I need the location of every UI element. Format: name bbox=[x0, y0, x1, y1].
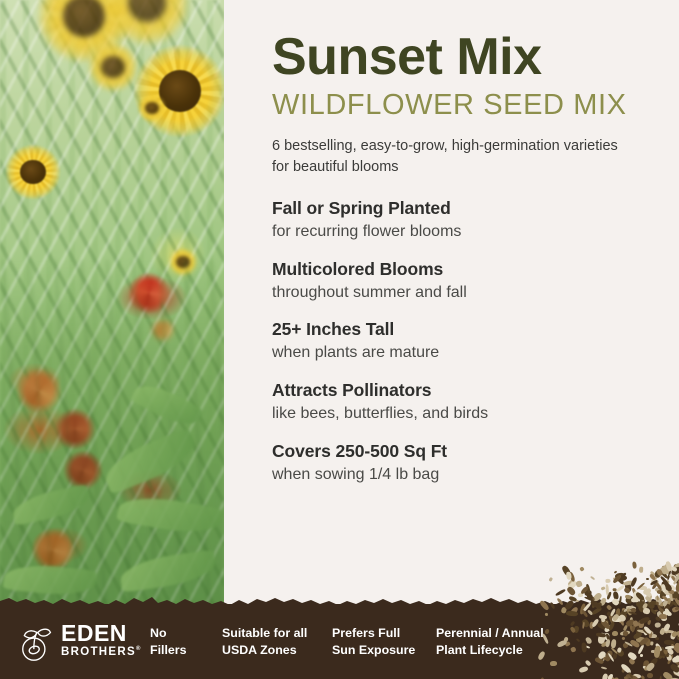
seed-particle bbox=[537, 650, 546, 660]
seed-particle bbox=[575, 638, 579, 642]
seed-particle bbox=[639, 654, 642, 657]
seed-particle bbox=[656, 595, 659, 600]
product-lede: 6 bestselling, easy-to-grow, high-germin… bbox=[272, 136, 622, 178]
seed-particle bbox=[540, 599, 551, 611]
feature-heading: Fall or Spring Planted bbox=[272, 198, 645, 220]
claim-item: No Fillers bbox=[150, 625, 222, 657]
feature-heading: Multicolored Blooms bbox=[272, 259, 645, 281]
seed-particle bbox=[581, 642, 587, 653]
feature-subtext: throughout summer and fall bbox=[272, 283, 645, 304]
feature-list: Fall or Spring Planted for recurring flo… bbox=[272, 198, 645, 485]
seed-particle bbox=[600, 586, 604, 590]
seed-particle bbox=[565, 571, 572, 579]
seed-particle bbox=[605, 579, 610, 583]
claim-line2: Fillers bbox=[150, 642, 222, 658]
feature-heading: Attracts Pollinators bbox=[272, 380, 645, 402]
seed-particle bbox=[549, 661, 556, 666]
claim-line2: USDA Zones bbox=[222, 642, 332, 658]
seed-particle bbox=[605, 584, 609, 595]
feature-item: Multicolored Blooms throughout summer an… bbox=[272, 259, 645, 304]
seed-particle bbox=[665, 645, 675, 649]
feature-subtext: when plants are mature bbox=[272, 343, 645, 364]
sprout-icon bbox=[18, 622, 56, 662]
claim-item: Prefers Full Sun Exposure bbox=[332, 625, 436, 657]
seed-particle bbox=[570, 646, 576, 652]
seed-particle bbox=[610, 638, 616, 648]
seed-particle bbox=[601, 666, 608, 670]
feature-item: Covers 250-500 Sq Ft when sowing 1/4 lb … bbox=[272, 441, 645, 486]
seed-particle bbox=[640, 675, 644, 679]
seed-particle bbox=[650, 642, 654, 646]
seed-particle bbox=[605, 639, 611, 648]
feature-heading: 25+ Inches Tall bbox=[272, 319, 645, 341]
claim-item: Suitable for all USDA Zones bbox=[222, 625, 332, 657]
feature-item: 25+ Inches Tall when plants are mature bbox=[272, 319, 645, 364]
seed-particle bbox=[612, 652, 617, 659]
seed-particle bbox=[566, 586, 576, 596]
sunflower-icon bbox=[4, 144, 62, 200]
seed-particle bbox=[580, 566, 586, 572]
feature-subtext: for recurring flower blooms bbox=[272, 222, 645, 243]
seed-particle bbox=[556, 639, 568, 648]
sunflower-icon bbox=[133, 44, 224, 138]
seed-particle bbox=[646, 578, 649, 580]
seed-particle bbox=[630, 576, 638, 587]
seed-particle bbox=[545, 613, 549, 616]
claim-line1: No bbox=[150, 626, 167, 640]
seed-particle bbox=[541, 633, 548, 644]
seed-particle bbox=[575, 580, 582, 587]
feature-heading: Covers 250-500 Sq Ft bbox=[272, 441, 645, 463]
sunflower-icon bbox=[137, 94, 167, 122]
seed-particle bbox=[647, 672, 653, 678]
seed-particle bbox=[631, 562, 636, 569]
seed-particle bbox=[612, 631, 619, 637]
brand-logo: EDEN BROTHERS® bbox=[18, 622, 144, 662]
seed-particle bbox=[579, 666, 589, 673]
sunflower-icon bbox=[86, 42, 140, 92]
feature-subtext: when sowing 1/4 lb bag bbox=[272, 465, 645, 486]
feature-item: Fall or Spring Planted for recurring flo… bbox=[272, 198, 645, 243]
seed-pile-photo bbox=[531, 561, 679, 679]
feature-subtext: like bees, butterflies, and birds bbox=[272, 404, 645, 425]
product-subtitle: WILDFLOWER SEED MIX bbox=[272, 90, 645, 122]
trademark-symbol: ® bbox=[136, 646, 142, 652]
claim-line1: Perennial / Annual bbox=[436, 626, 544, 640]
seed-particle bbox=[549, 602, 555, 610]
seed-particle bbox=[566, 611, 578, 617]
claim-line1: Suitable for all bbox=[222, 626, 307, 640]
seed-particle bbox=[555, 589, 566, 597]
seed-particle bbox=[576, 600, 580, 603]
seed-particle bbox=[585, 659, 592, 666]
brand-name-line2: BROTHERS bbox=[61, 646, 136, 658]
seed-particle bbox=[548, 577, 553, 582]
claim-line1: Prefers Full bbox=[332, 626, 400, 640]
product-infographic: Sunset Mix WILDFLOWER SEED MIX 6 bestsel… bbox=[0, 0, 679, 679]
feature-item: Attracts Pollinators like bees, butterfl… bbox=[272, 380, 645, 425]
seed-particle bbox=[589, 575, 595, 580]
content-panel: Sunset Mix WILDFLOWER SEED MIX 6 bestsel… bbox=[224, 0, 679, 612]
seed-particle bbox=[659, 675, 662, 679]
seed-particle bbox=[601, 673, 608, 679]
seed-particle bbox=[557, 598, 565, 606]
seed-particle bbox=[639, 567, 643, 573]
seed-particle bbox=[619, 595, 623, 604]
wildflower-field-photo bbox=[0, 0, 224, 612]
page-title: Sunset Mix bbox=[272, 30, 645, 84]
brand-name-line1: EDEN bbox=[61, 623, 142, 645]
claim-line2: Sun Exposure bbox=[332, 642, 436, 658]
seed-particle bbox=[621, 636, 625, 640]
seed-particle bbox=[659, 613, 667, 618]
